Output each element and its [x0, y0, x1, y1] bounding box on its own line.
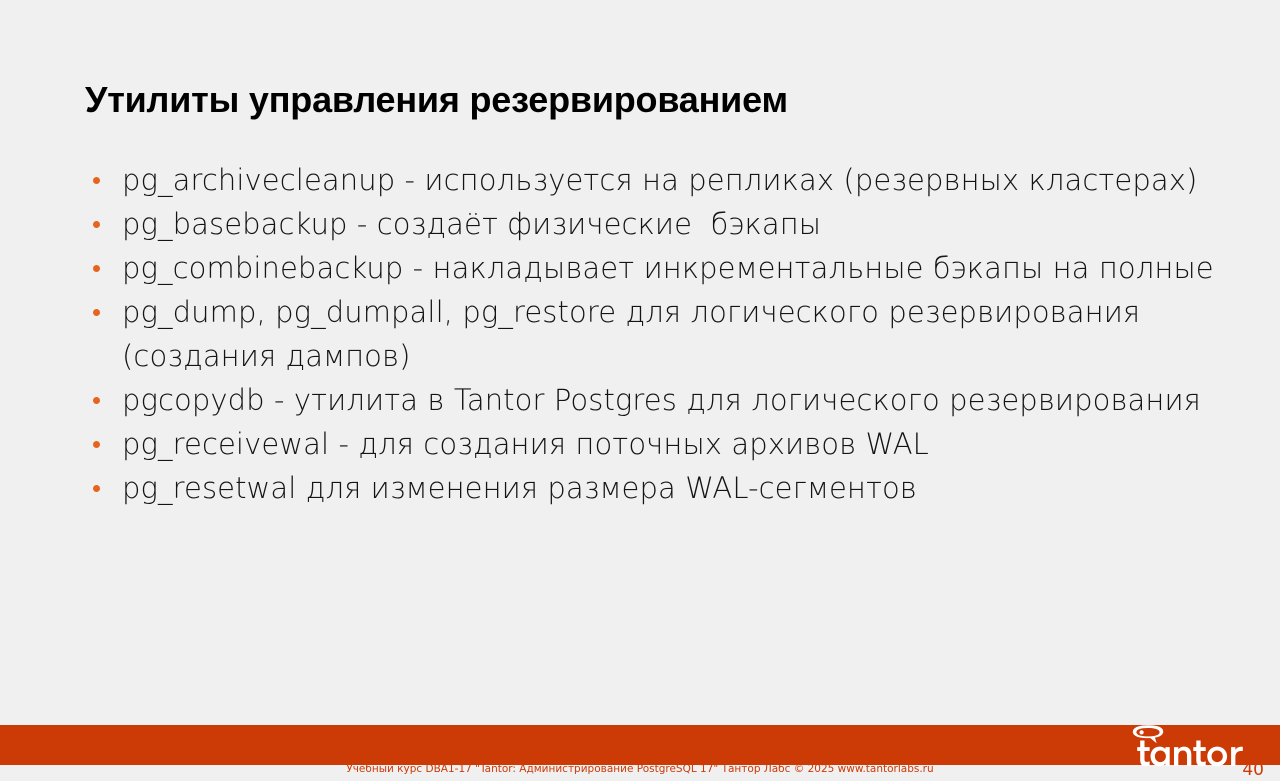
slide: Утилиты управления резервированием pg_ar… [0, 0, 1280, 781]
footer-accent-bar [0, 725, 1280, 765]
footer-course-note: Учебный курс DBA1-17 "Tantor: Администри… [0, 762, 1280, 776]
bullet-list: pg_archivecleanup - используется на репл… [85, 158, 1215, 510]
list-item: pg_archivecleanup - используется на репл… [85, 158, 1215, 202]
list-item: pg_resetwal для изменения размера WAL-се… [85, 466, 1215, 510]
list-item: pg_receivewal - для создания поточных ар… [85, 422, 1215, 466]
list-item: pgcopydb - утилита в Tantor Postgres для… [85, 378, 1215, 422]
list-item: pg_combinebackup - накладывает инкремент… [85, 246, 1215, 290]
list-item: pg_basebackup - создаёт физические бэкап… [85, 202, 1215, 246]
list-item: pg_dump, pg_dumpall, pg_restore для логи… [85, 290, 1215, 378]
page-number: 40 [1242, 760, 1264, 780]
page-title: Утилиты управления резервированием [85, 78, 788, 122]
